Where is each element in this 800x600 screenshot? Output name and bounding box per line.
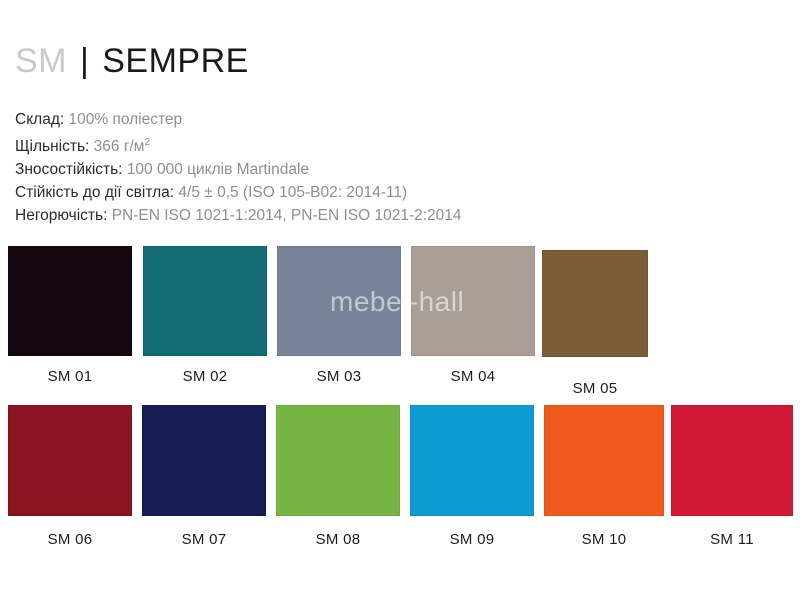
fabric-color-card: SM | SEMPRE Склад: 100% поліестер Щільні… (0, 0, 800, 600)
swatch-cell-sm-07[interactable]: SM 07 (142, 405, 266, 516)
swatch-row-2: SM 06 SM 07 SM 08 SM 09 SM 10 SM 11 (0, 405, 800, 555)
color-swatch[interactable] (276, 405, 400, 516)
swatch-cell-sm-02[interactable]: SM 02 (143, 246, 267, 356)
swatch-cell-sm-01[interactable]: SM 01 (8, 246, 132, 356)
swatch-cell-sm-10[interactable]: SM 10 (544, 405, 664, 516)
swatch-label: SM 08 (316, 531, 361, 548)
spec-label: Зносостійкість: (15, 161, 123, 178)
page-title-code: SM (15, 42, 67, 80)
swatch-label: SM 02 (183, 368, 228, 385)
swatch-cell-sm-03[interactable]: SM 03 (277, 246, 401, 356)
swatch-cell-sm-08[interactable]: SM 08 (276, 405, 400, 516)
color-swatch[interactable] (544, 405, 664, 516)
page-title: SM | SEMPRE (15, 44, 249, 78)
spec-value: 100 000 циклів Martindale (127, 161, 309, 178)
spec-label: Склад: (15, 111, 64, 128)
swatch-label: SM 10 (582, 531, 627, 548)
color-swatch[interactable] (411, 246, 535, 356)
spec-value: 100% поліестер (68, 111, 182, 128)
swatch-cell-sm-06[interactable]: SM 06 (8, 405, 132, 516)
swatch-label: SM 06 (48, 531, 93, 548)
page-title-name: SEMPRE (102, 42, 249, 80)
spec-row-abrasion-resistance: Зносостійкість: 100 000 циклів Martindal… (15, 158, 785, 181)
spec-label: Негорючість: (15, 207, 107, 224)
color-swatch[interactable] (542, 250, 648, 357)
color-swatch[interactable] (8, 405, 132, 516)
swatch-label: SM 11 (710, 531, 754, 548)
swatch-cell-sm-04[interactable]: SM 04 (411, 246, 535, 356)
color-swatch[interactable] (410, 405, 534, 516)
swatch-label: SM 04 (451, 368, 496, 385)
swatch-label: SM 05 (573, 380, 618, 397)
color-swatch[interactable] (8, 246, 132, 356)
swatch-label: SM 01 (48, 368, 93, 385)
swatch-cell-sm-05[interactable]: SM 05 (542, 250, 648, 357)
page-title-separator: | (77, 42, 92, 80)
spec-row-density: Щільність: 366 г/м2 (15, 131, 785, 158)
swatch-label: SM 03 (317, 368, 362, 385)
swatch-cell-sm-11[interactable]: SM 11 (671, 405, 793, 516)
color-swatch[interactable] (277, 246, 401, 356)
color-swatch[interactable] (142, 405, 266, 516)
specifications-list: Склад: 100% поліестер Щільність: 366 г/м… (15, 108, 785, 227)
spec-value: 366 г/м2 (94, 138, 150, 155)
spec-label: Стійкість до дії світла: (15, 184, 174, 201)
color-swatch[interactable] (143, 246, 267, 356)
swatch-label: SM 07 (182, 531, 227, 548)
spec-row-lightfastness: Стійкість до дії світла: 4/5 ± 0,5 (ISO … (15, 181, 785, 204)
spec-row-flammability: Негорючість: PN-EN ISO 1021-1:2014, PN-E… (15, 204, 785, 227)
spec-label: Щільність: (15, 138, 89, 155)
swatch-cell-sm-09[interactable]: SM 09 (410, 405, 534, 516)
color-swatch[interactable] (671, 405, 793, 516)
swatch-row-1: SM 01 SM 02 SM 03 SM 04 SM 05 (0, 246, 800, 396)
spec-value: PN-EN ISO 1021-1:2014, PN-EN ISO 1021-2:… (112, 207, 462, 224)
spec-row-composition: Склад: 100% поліестер (15, 108, 785, 131)
spec-value: 4/5 ± 0,5 (ISO 105-B02: 2014-11) (178, 184, 407, 201)
swatch-label: SM 09 (450, 531, 495, 548)
